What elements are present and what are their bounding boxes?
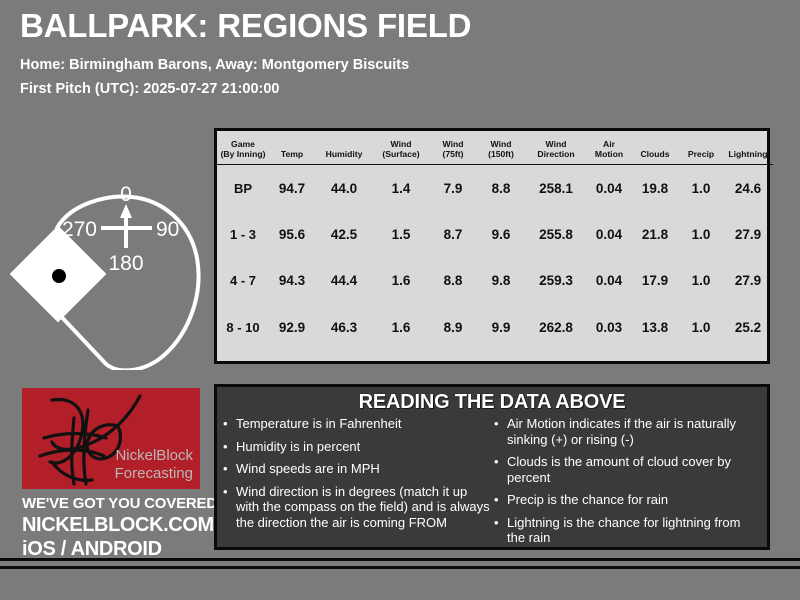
reading-panel-right-column: • Air Motion indicates if the air is nat… <box>494 416 761 553</box>
cell-wind-75: 8.8 <box>429 258 477 304</box>
first-pitch-line: First Pitch (UTC): 2025-07-27 21:00:00 <box>20 79 780 99</box>
logo-wordmark-line2: Forecasting <box>115 465 193 483</box>
table-row: 4 - 7 94.3 44.4 1.6 8.8 9.8 259.3 0.04 1… <box>217 258 773 304</box>
cell-wind-surface: 1.4 <box>373 165 429 212</box>
list-item-label: Humidity is in percent <box>236 439 490 455</box>
col-header-wind-75: Wind (75ft) <box>429 131 477 165</box>
cell-wind-150: 9.8 <box>477 258 525 304</box>
compass-label-west: 270 <box>62 218 97 241</box>
cell-precip: 1.0 <box>679 258 723 304</box>
cell-wind-surface: 1.6 <box>373 304 429 350</box>
col-header-wind-direction-line2: Direction <box>526 149 586 159</box>
list-item-label: Lightning is the chance for lightning fr… <box>507 515 761 546</box>
cell-clouds: 19.8 <box>631 165 679 212</box>
table-row: 1 - 3 95.6 42.5 1.5 8.7 9.6 255.8 0.04 2… <box>217 211 773 257</box>
list-item-label: Clouds is the amount of cloud cover by p… <box>507 454 761 485</box>
col-header-wind-75-line2: (75ft) <box>430 149 476 159</box>
cell-air-motion: 0.03 <box>587 304 631 350</box>
reading-panel-columns: • Temperature is in Fahrenheit • Humidit… <box>217 414 767 553</box>
forecast-table-container: Game (By Inning) Temp Humidity Wind (Sur… <box>214 128 770 364</box>
bullet-icon: • <box>223 439 236 455</box>
list-item: • Wind speeds are in MPH <box>223 461 490 477</box>
field-diagram-svg: 0 90 180 270 <box>10 150 210 370</box>
cell-lightning: 25.2 <box>723 304 773 350</box>
bottom-divider-upper <box>0 558 800 561</box>
list-item-label: Air Motion indicates if the air is natur… <box>507 416 761 447</box>
cell-lightning: 24.6 <box>723 165 773 212</box>
cell-wind-surface: 1.6 <box>373 258 429 304</box>
reading-panel-title: READING THE DATA ABOVE <box>217 387 767 414</box>
col-header-clouds: Clouds <box>631 131 679 165</box>
bullet-icon: • <box>494 515 507 546</box>
table-spacer-row <box>217 350 773 361</box>
list-item: • Wind direction is in degrees (match it… <box>223 484 490 531</box>
col-header-wind-direction-line1: Wind <box>526 139 586 149</box>
page-title: BALLPARK: REGIONS FIELD <box>20 6 780 46</box>
reading-panel-left-column: • Temperature is in Fahrenheit • Humidit… <box>223 416 490 553</box>
col-header-air-motion-line2: Motion <box>588 149 630 159</box>
cell-clouds: 13.8 <box>631 304 679 350</box>
cell-air-motion: 0.04 <box>587 211 631 257</box>
cell-air-motion: 0.04 <box>587 165 631 212</box>
cell-precip: 1.0 <box>679 165 723 212</box>
list-item: • Air Motion indicates if the air is nat… <box>494 416 761 447</box>
cell-temp: 95.6 <box>269 211 315 257</box>
cell-humidity: 46.3 <box>315 304 373 350</box>
col-header-temp: Temp <box>269 131 315 165</box>
cell-wind-75: 8.9 <box>429 304 477 350</box>
col-header-wind-direction: Wind Direction <box>525 131 587 165</box>
col-header-lightning: Lightning <box>723 131 773 165</box>
table-row: BP 94.7 44.0 1.4 7.9 8.8 258.1 0.04 19.8… <box>217 165 773 212</box>
list-item-label: Temperature is in Fahrenheit <box>236 416 490 432</box>
col-header-wind-150: Wind (150ft) <box>477 131 525 165</box>
col-header-wind-surface-line2: (Surface) <box>374 149 428 159</box>
col-header-humidity-line1: Humidity <box>316 149 372 159</box>
cell-wind-surface: 1.5 <box>373 211 429 257</box>
cell-humidity: 44.0 <box>315 165 373 212</box>
table-spacer-cell <box>217 350 773 361</box>
col-header-wind-surface: Wind (Surface) <box>373 131 429 165</box>
forecast-table-head: Game (By Inning) Temp Humidity Wind (Sur… <box>217 131 773 165</box>
col-header-clouds-line1: Clouds <box>632 149 678 159</box>
col-header-air-motion: Air Motion <box>587 131 631 165</box>
field-diagram: 0 90 180 270 <box>10 150 210 370</box>
col-header-precip-line1: Precip <box>680 149 722 159</box>
list-item: • Lightning is the chance for lightning … <box>494 515 761 546</box>
list-item: • Precip is the chance for rain <box>494 492 761 508</box>
col-header-air-motion-line1: Air <box>588 139 630 149</box>
col-header-precip: Precip <box>679 131 723 165</box>
bullet-icon: • <box>223 484 236 531</box>
cell-lightning: 27.9 <box>723 211 773 257</box>
col-header-game: Game (By Inning) <box>217 131 269 165</box>
bullet-icon: • <box>223 416 236 432</box>
logo-wordmark: NickelBlock Forecasting <box>115 447 193 483</box>
cell-game: BP <box>217 165 269 212</box>
cell-wind-direction: 259.3 <box>525 258 587 304</box>
forecast-table-body: BP 94.7 44.0 1.4 7.9 8.8 258.1 0.04 19.8… <box>217 165 773 362</box>
compass-label-north: 0 <box>120 183 132 206</box>
col-header-game-line1: Game <box>218 139 268 149</box>
cell-clouds: 21.8 <box>631 211 679 257</box>
col-header-wind-75-line1: Wind <box>430 139 476 149</box>
cell-wind-150: 9.9 <box>477 304 525 350</box>
cell-precip: 1.0 <box>679 304 723 350</box>
cell-wind-75: 7.9 <box>429 165 477 212</box>
forecast-table: Game (By Inning) Temp Humidity Wind (Sur… <box>217 131 773 361</box>
cell-wind-75: 8.7 <box>429 211 477 257</box>
header: BALLPARK: REGIONS FIELD Home: Birmingham… <box>20 6 780 99</box>
list-item-label: Wind direction is in degrees (match it u… <box>236 484 490 531</box>
cell-wind-direction: 262.8 <box>525 304 587 350</box>
bullet-icon: • <box>223 461 236 477</box>
cell-temp: 92.9 <box>269 304 315 350</box>
compass-north-arrowhead <box>120 204 132 218</box>
cell-clouds: 17.9 <box>631 258 679 304</box>
cell-precip: 1.0 <box>679 211 723 257</box>
col-header-lightning-line1: Lightning <box>724 149 772 159</box>
compass-label-east: 90 <box>156 218 179 241</box>
brand-block: NickelBlock Forecasting WE'VE GOT YOU CO… <box>22 388 200 561</box>
cell-wind-direction: 255.8 <box>525 211 587 257</box>
brand-url[interactable]: NICKELBLOCK.COM <box>22 514 200 537</box>
col-header-wind-surface-line1: Wind <box>374 139 428 149</box>
reading-the-data-panel: READING THE DATA ABOVE • Temperature is … <box>214 384 770 550</box>
col-header-humidity: Humidity <box>315 131 373 165</box>
bottom-divider-lower <box>0 566 800 569</box>
bullet-icon: • <box>494 454 507 485</box>
cell-wind-150: 9.6 <box>477 211 525 257</box>
bullet-icon: • <box>494 416 507 447</box>
logo-box: NickelBlock Forecasting <box>22 388 200 489</box>
table-header-row: Game (By Inning) Temp Humidity Wind (Sur… <box>217 131 773 165</box>
cell-temp: 94.7 <box>269 165 315 212</box>
list-item-label: Wind speeds are in MPH <box>236 461 490 477</box>
cell-humidity: 44.4 <box>315 258 373 304</box>
cell-wind-150: 8.8 <box>477 165 525 212</box>
cell-game: 4 - 7 <box>217 258 269 304</box>
col-header-wind-150-line2: (150ft) <box>478 149 524 159</box>
list-item: • Clouds is the amount of cloud cover by… <box>494 454 761 485</box>
table-row: 8 - 10 92.9 46.3 1.6 8.9 9.9 262.8 0.03 … <box>217 304 773 350</box>
cell-humidity: 42.5 <box>315 211 373 257</box>
list-item-label: Precip is the chance for rain <box>507 492 761 508</box>
brand-tagline: WE'VE GOT YOU COVERED <box>22 495 200 512</box>
teams-line: Home: Birmingham Barons, Away: Montgomer… <box>20 55 780 75</box>
list-item: • Temperature is in Fahrenheit <box>223 416 490 432</box>
compass-label-south: 180 <box>108 252 143 275</box>
cell-wind-direction: 258.1 <box>525 165 587 212</box>
cell-temp: 94.3 <box>269 258 315 304</box>
cell-game: 8 - 10 <box>217 304 269 350</box>
cell-lightning: 27.9 <box>723 258 773 304</box>
col-header-game-line2: (By Inning) <box>218 149 268 159</box>
mound-dot <box>52 269 66 283</box>
cell-game: 1 - 3 <box>217 211 269 257</box>
col-header-wind-150-line1: Wind <box>478 139 524 149</box>
list-item: • Humidity is in percent <box>223 439 490 455</box>
logo-wordmark-line1: NickelBlock <box>115 447 193 465</box>
cell-air-motion: 0.04 <box>587 258 631 304</box>
bullet-icon: • <box>494 492 507 508</box>
col-header-temp-line1: Temp <box>270 149 314 159</box>
